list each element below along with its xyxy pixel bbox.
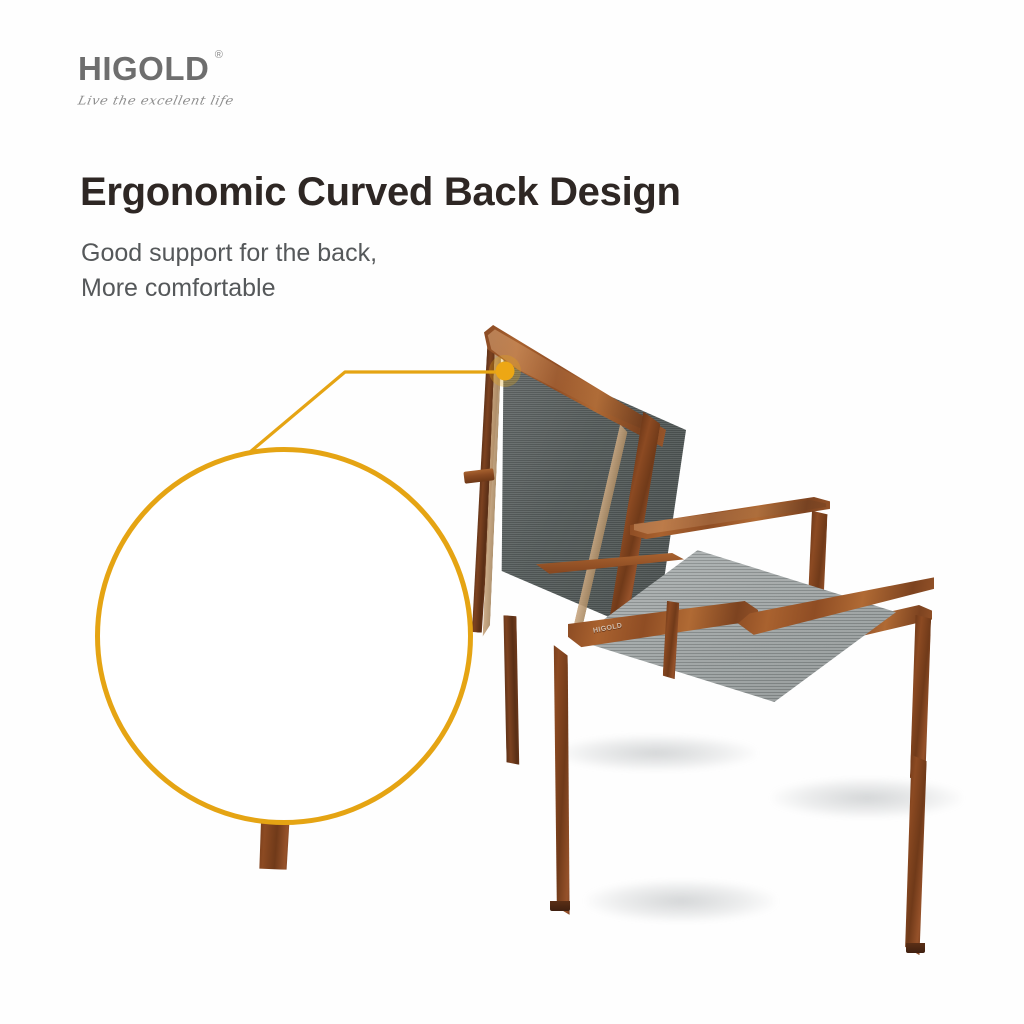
page-title: Ergonomic Curved Back Design bbox=[80, 170, 681, 215]
brand-logo: HIGOLD ® Live the excellent life bbox=[78, 52, 234, 109]
chair-leg-front-right bbox=[904, 755, 926, 955]
page-subtitle: Good support for the back, More comforta… bbox=[81, 236, 377, 305]
subtitle-line-2: More comfortable bbox=[81, 271, 377, 306]
chair-foot-front-left bbox=[550, 901, 570, 911]
detail-magnifier-ring bbox=[95, 447, 473, 825]
brand-tagline: Live the excellent life bbox=[77, 95, 236, 109]
subtitle-line-1: Good support for the back, bbox=[81, 236, 377, 271]
product-image-chair: HIGOLD bbox=[470, 315, 970, 925]
chair-foot-front-right bbox=[906, 943, 925, 953]
registered-trademark-icon: ® bbox=[215, 50, 224, 61]
chair-leg-front-left bbox=[548, 645, 574, 915]
chair-leg-rear-left bbox=[501, 615, 521, 765]
brand-name: HIGOLD ® bbox=[78, 52, 209, 85]
brand-name-text: HIGOLD bbox=[78, 50, 209, 87]
marketing-banner: HIGOLD ® Live the excellent life Ergonom… bbox=[0, 0, 1024, 1024]
